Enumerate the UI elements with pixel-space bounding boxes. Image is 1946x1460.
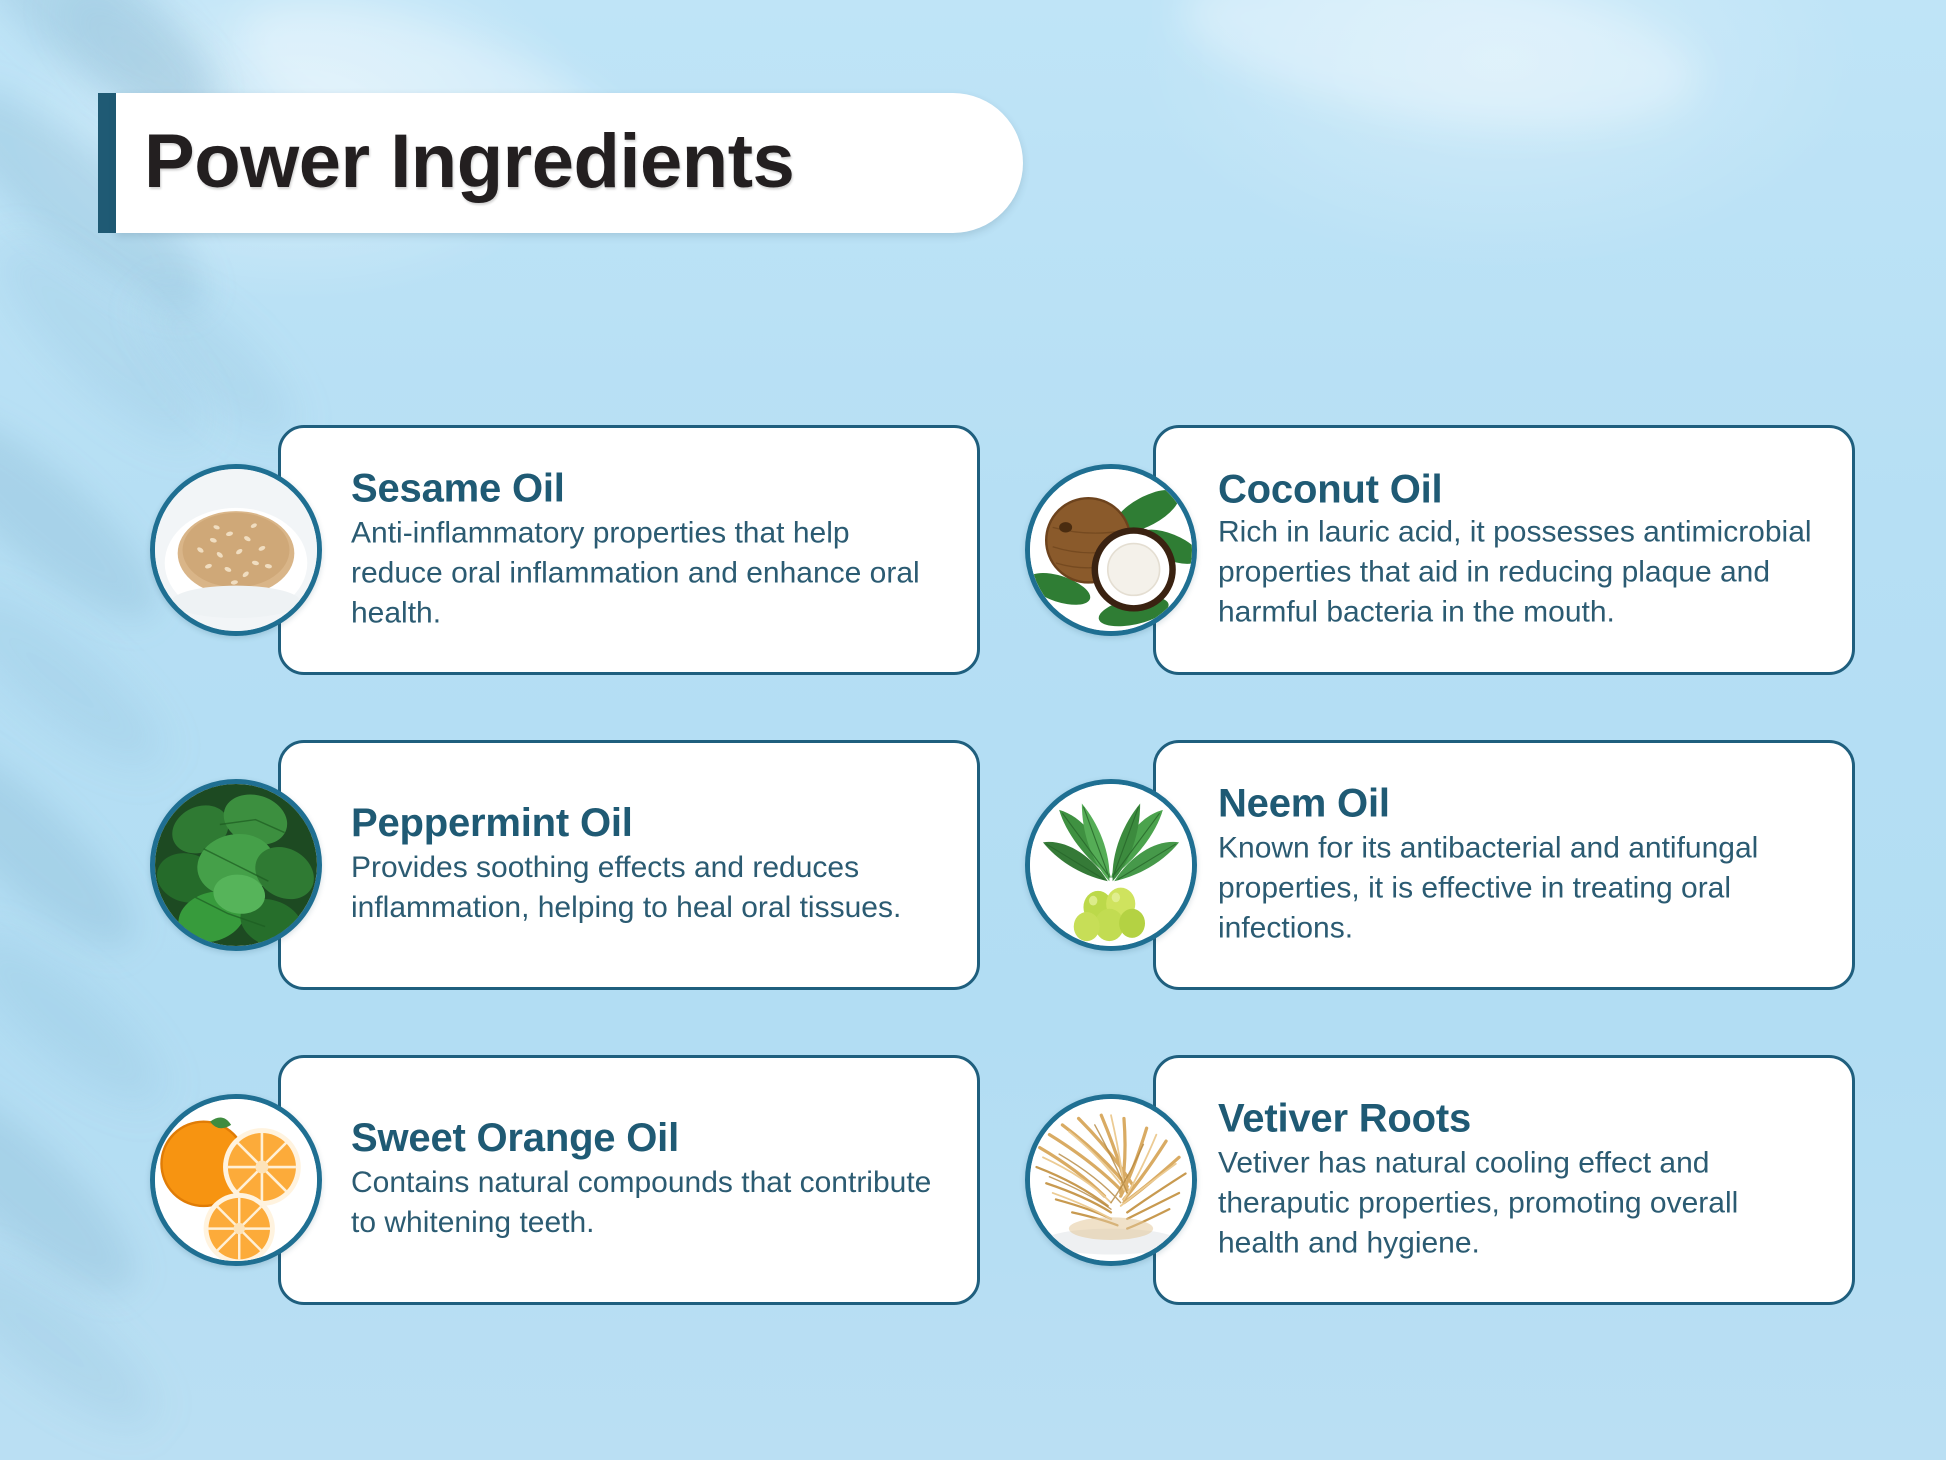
ingredients-column-left: Sesame Oil Anti-inflammatory properties … (150, 425, 980, 1370)
sesame-seeds-bowl-icon (150, 464, 322, 636)
ingredient-description: Rich in lauric acid, it possesses antimi… (1218, 513, 1822, 632)
ingredient-card[interactable]: Coconut Oil Rich in lauric acid, it poss… (1153, 425, 1855, 675)
vetiver-roots-icon (1025, 1094, 1197, 1266)
slide-canvas: Power Ingredients (0, 0, 1946, 1460)
ingredient-title: Peppermint Oil (351, 802, 947, 844)
ingredient-title: Sweet Orange Oil (351, 1117, 947, 1159)
ingredient-item[interactable]: Neem Oil Known for its antibacterial and… (1025, 740, 1855, 990)
sliced-oranges-icon (150, 1094, 322, 1266)
ingredient-item[interactable]: Vetiver Roots Vetiver has natural coolin… (1025, 1055, 1855, 1305)
ingredient-title: Vetiver Roots (1218, 1097, 1822, 1139)
neem-leaves-fruit-icon (1025, 779, 1197, 951)
ingredient-item[interactable]: Peppermint Oil Provides soothing effects… (150, 740, 980, 990)
ingredient-title: Sesame Oil (351, 467, 947, 509)
ingredient-description: Provides soothing effects and reduces in… (351, 849, 947, 928)
ingredient-card[interactable]: Peppermint Oil Provides soothing effects… (278, 740, 980, 990)
ingredient-card[interactable]: Sweet Orange Oil Contains natural compou… (278, 1055, 980, 1305)
ingredient-description: Known for its antibacterial and antifung… (1218, 829, 1822, 948)
page-title-banner: Power Ingredients (98, 93, 1023, 233)
peppermint-leaves-icon (150, 779, 322, 951)
ingredient-item[interactable]: Coconut Oil Rich in lauric acid, it poss… (1025, 425, 1855, 675)
title-accent-bar (98, 93, 116, 233)
ingredient-item[interactable]: Sweet Orange Oil Contains natural compou… (150, 1055, 980, 1305)
ingredient-description: Contains natural compounds that contribu… (351, 1164, 947, 1243)
ingredient-card[interactable]: Vetiver Roots Vetiver has natural coolin… (1153, 1055, 1855, 1305)
ingredient-description: Vetiver has natural cooling effect and t… (1218, 1144, 1822, 1263)
ingredients-column-right: Coconut Oil Rich in lauric acid, it poss… (1025, 425, 1855, 1370)
ingredient-item[interactable]: Sesame Oil Anti-inflammatory properties … (150, 425, 980, 675)
ingredient-card[interactable]: Sesame Oil Anti-inflammatory properties … (278, 425, 980, 675)
ingredient-title: Neem Oil (1218, 782, 1822, 824)
ingredient-card[interactable]: Neem Oil Known for its antibacterial and… (1153, 740, 1855, 990)
ingredient-title: Coconut Oil (1218, 468, 1822, 510)
ingredient-description: Anti-inflammatory properties that help r… (351, 514, 947, 633)
page-title: Power Ingredients (144, 118, 794, 205)
coconut-halves-icon (1025, 464, 1197, 636)
